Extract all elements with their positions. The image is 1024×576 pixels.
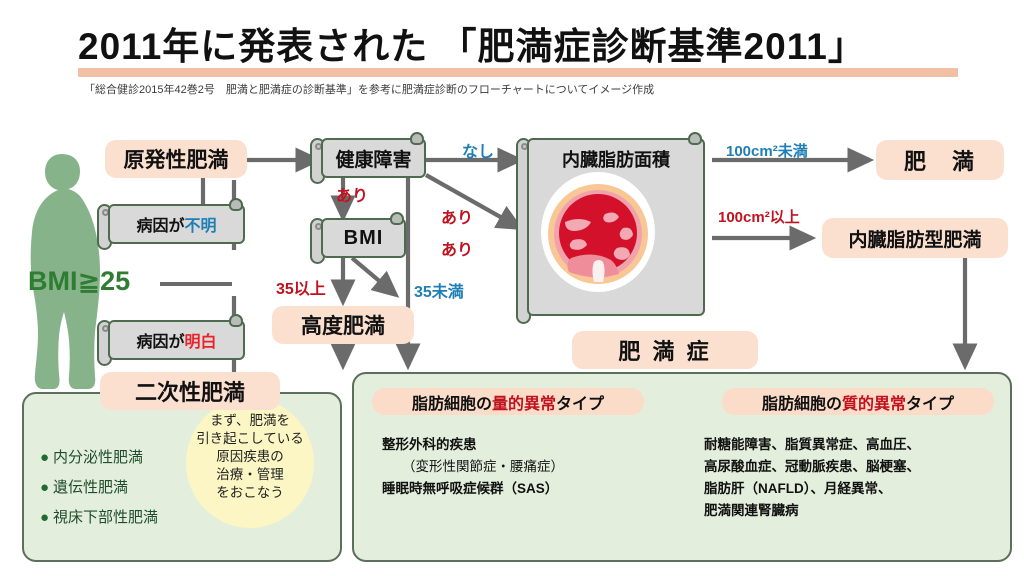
list-item-label: 遺伝性肥満 (53, 479, 128, 496)
treatment-note-blob: まず、肥満を 引き起こしている 原因疾患の 治療・管理 をおこなう (186, 398, 314, 528)
obesity-disease-title: 肥 満 症 (572, 331, 758, 369)
treatment-note-line: 治療・管理 (186, 466, 314, 484)
edge-label-bmi-ge-35: 35以上 (276, 275, 326, 299)
node-bmi-label: BMI (344, 227, 384, 250)
node-health-disorder-label: 健康障害 (335, 145, 411, 172)
treatment-note-line: をおこなう (186, 484, 314, 502)
list-item: ●視床下部性肥満 (40, 506, 158, 527)
node-primary-obesity-label: 原発性肥満 (124, 144, 229, 174)
scroll-knob (390, 212, 404, 225)
secondary-obesity-panel: ●内分泌性肥満 ●遺伝性肥満 ●視床下部性肥満 まず、肥満を 引き起こしている … (22, 392, 342, 562)
scroll-knob (410, 132, 424, 145)
edge-label-bmi-lt-35: 35未満 (414, 278, 464, 302)
node-secondary-obesity-label: 二次性肥満 (135, 375, 245, 407)
disease-item: 脂肪肝（NAFLD）、月経異常、 (704, 478, 1004, 500)
disease-item: 肥満関連腎臓病 (704, 500, 1004, 522)
page-subtitle: 「総合健診2015年42巻2号 肥満と肥満症の診断基準」を参考に肥満症診断のフロ… (84, 82, 984, 98)
node-cause-known-highlight: 明白 (185, 328, 217, 352)
node-visceral-fat-area[interactable]: 内臓脂肪面積 (516, 138, 716, 324)
edge-label-yes-disease: あり (441, 236, 473, 260)
edge-label-yes-bmi: あり (336, 182, 368, 206)
node-cause-unknown-highlight: 不明 (185, 212, 217, 236)
list-item-label: 内分泌性肥満 (53, 449, 143, 466)
list-item: ●内分泌性肥満 (40, 446, 143, 467)
node-cause-unknown[interactable]: 病因が不明 (97, 204, 245, 250)
node-health-disorder[interactable]: 健康障害 (310, 138, 426, 184)
node-cause-known[interactable]: 病因が明白 (97, 320, 245, 366)
type-pill-qualitative: 脂肪細胞の質的異常タイプ (722, 388, 994, 415)
ct-scan-illustration (539, 170, 657, 294)
node-visceral-type-obesity-label: 内臓脂肪型肥満 (848, 225, 981, 252)
treatment-note-line: まず、肥満を (186, 412, 314, 430)
node-cause-unknown-prefix: 病因が (136, 212, 184, 236)
node-secondary-obesity[interactable]: 二次性肥満 (100, 372, 280, 410)
type-pill-qualitative-prefix: 脂肪細胞の (762, 390, 842, 414)
scroll-knob (688, 132, 702, 145)
treatment-note-line: 原因疾患の (186, 448, 314, 466)
type-pill-quantitative: 脂肪細胞の量的異常タイプ (372, 388, 644, 415)
quantitative-disease-list: 整形外科的疾患 （変形性関節症・腰痛症） 睡眠時無呼吸症候群（SAS） (382, 434, 702, 500)
bmi-threshold-label: BMI≧25 (28, 266, 130, 297)
obesity-disease-panel: 脂肪細胞の量的異常タイプ 脂肪細胞の質的異常タイプ 整形外科的疾患 （変形性関節… (352, 372, 1012, 562)
treatment-note-line: 引き起こしている (186, 430, 314, 448)
disease-item: 睡眠時無呼吸症候群（SAS） (382, 478, 702, 500)
type-pill-quantitative-highlight: 量的異常 (492, 390, 556, 414)
node-bmi[interactable]: BMI (310, 218, 406, 264)
disease-item: （変形性関節症・腰痛症） (382, 456, 702, 478)
diagram-canvas: 2011年に発表された 「肥満症診断基準2011」 「総合健診2015年42巻2… (0, 0, 1024, 576)
edge-label-vfa-lt-100: 100cm²未満 (726, 140, 808, 161)
node-visceral-fat-area-label: 内臓脂肪面積 (529, 146, 703, 172)
node-cause-known-prefix: 病因が (136, 328, 184, 352)
scroll-knob (229, 198, 243, 211)
disease-item: 高尿酸血症、冠動脈疾患、脳梗塞、 (704, 456, 1004, 478)
obesity-disease-title-label: 肥 満 症 (618, 334, 711, 366)
node-obesity[interactable]: 肥 満 (876, 140, 1004, 180)
type-pill-quantitative-prefix: 脂肪細胞の (412, 390, 492, 414)
type-pill-qualitative-suffix: タイプ (906, 390, 954, 414)
list-item-label: 視床下部性肥満 (53, 509, 158, 526)
node-visceral-type-obesity[interactable]: 内臓脂肪型肥満 (822, 218, 1008, 258)
list-item: ●遺伝性肥満 (40, 476, 128, 497)
edge-label-yes-visceral: あり (441, 204, 473, 228)
disease-item: 整形外科的疾患 (382, 434, 702, 456)
disease-item: 耐糖能障害、脂質異常症、高血圧、 (704, 434, 1004, 456)
node-severe-obesity-label: 高度肥満 (301, 310, 385, 340)
edge-label-vfa-ge-100: 100cm²以上 (718, 206, 800, 227)
type-pill-quantitative-suffix: タイプ (556, 390, 604, 414)
page-title-text: 2011年に発表された 「肥満症診断基準2011」 (78, 24, 958, 70)
node-obesity-label: 肥 満 (904, 144, 976, 176)
page-title: 2011年に発表された 「肥満症診断基準2011」 (78, 24, 958, 70)
scroll-knob (229, 314, 243, 327)
edge-label-none: なし (462, 138, 494, 162)
title-underline-rule (78, 68, 958, 77)
node-primary-obesity[interactable]: 原発性肥満 (105, 140, 247, 178)
node-severe-obesity[interactable]: 高度肥満 (272, 306, 414, 344)
type-pill-qualitative-highlight: 質的異常 (842, 390, 906, 414)
qualitative-disease-list: 耐糖能障害、脂質異常症、高血圧、 高尿酸血症、冠動脈疾患、脳梗塞、 脂肪肝（NA… (704, 434, 1004, 522)
